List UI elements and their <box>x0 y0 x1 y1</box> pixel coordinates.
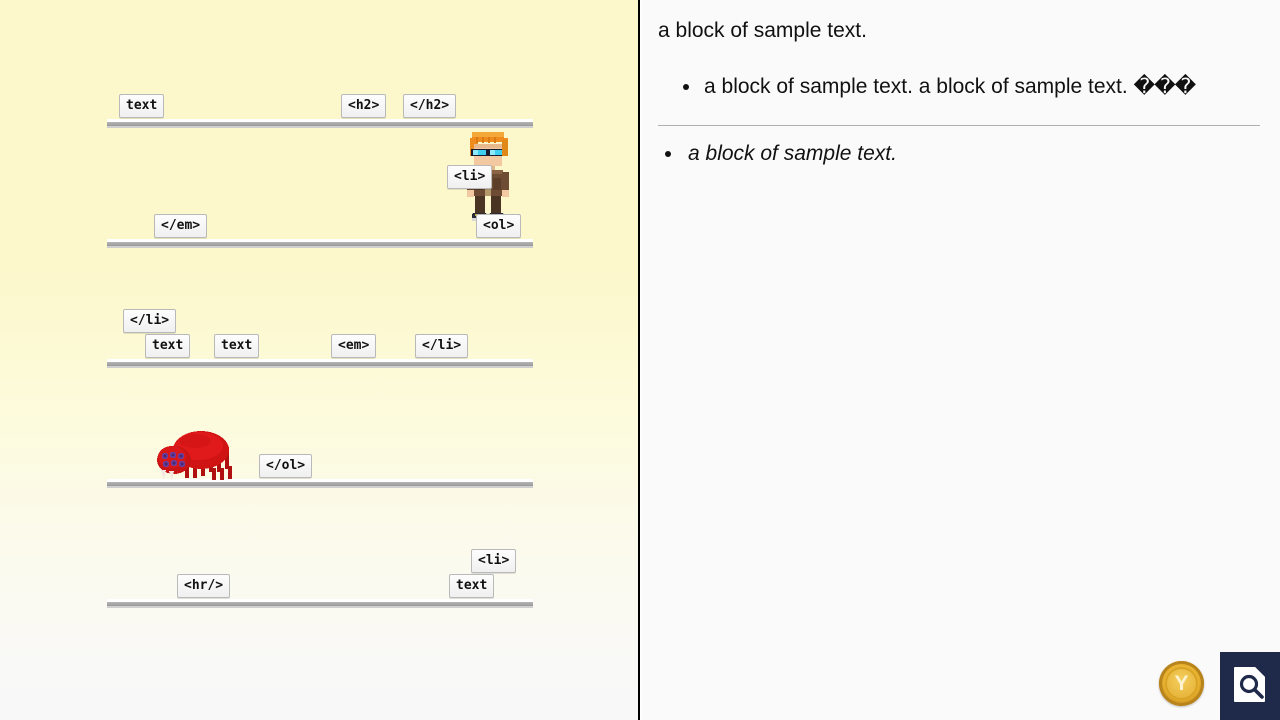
coin-letter: Y <box>1174 673 1188 694</box>
game-panel: text <h2> </h2> <li> </em> <ol> </li> te… <box>0 0 640 720</box>
tag-li-close-1[interactable]: </li> <box>123 309 176 333</box>
coin-inner: Y <box>1165 667 1198 700</box>
preview-paragraph: a block of sample text. <box>658 18 1260 45</box>
coin-badge[interactable]: Y <box>1159 661 1204 706</box>
tag-em-open[interactable]: <em> <box>331 334 376 358</box>
tag-text-2[interactable]: text <box>145 334 190 358</box>
platform-5 <box>107 599 533 608</box>
tag-text-3[interactable]: text <box>214 334 259 358</box>
platform-2 <box>107 239 533 248</box>
inspect-button[interactable] <box>1220 652 1280 720</box>
tag-hr[interactable]: <hr/> <box>177 574 230 598</box>
preview-outer-list: a block of sample text. <box>684 140 1260 167</box>
app-root: text <h2> </h2> <li> </em> <ol> </li> te… <box>0 0 1280 720</box>
tag-ol-close[interactable]: </ol> <box>259 454 312 478</box>
tag-li-open-1[interactable]: <li> <box>447 165 492 189</box>
tag-em-close[interactable]: </em> <box>154 214 207 238</box>
list-item-text: a block of sample text. a block of sampl… <box>704 75 1128 98</box>
tag-ol-open[interactable]: <ol> <box>476 214 521 238</box>
tag-text-4[interactable]: text <box>449 574 494 598</box>
horizontal-rule <box>658 125 1260 126</box>
tag-li-close-2[interactable]: </li> <box>415 334 468 358</box>
spider-sprite[interactable] <box>155 428 240 482</box>
tag-h2-open[interactable]: <h2> <box>341 94 386 118</box>
preview-nested-list: a block of sample text. a block of sampl… <box>702 71 1260 103</box>
tag-text-1[interactable]: text <box>119 94 164 118</box>
tag-li-open-2[interactable]: <li> <box>471 549 516 573</box>
platform-1 <box>107 119 533 128</box>
preview-panel: a block of sample text. a block of sampl… <box>642 0 1280 720</box>
platform-3 <box>107 359 533 368</box>
replacement-characters: ��� <box>1134 74 1196 98</box>
document-search-icon <box>1231 664 1269 709</box>
list-item: a block of sample text. <box>684 140 1260 167</box>
tag-h2-close[interactable]: </h2> <box>403 94 456 118</box>
list-item: a block of sample text. a block of sampl… <box>702 71 1260 103</box>
